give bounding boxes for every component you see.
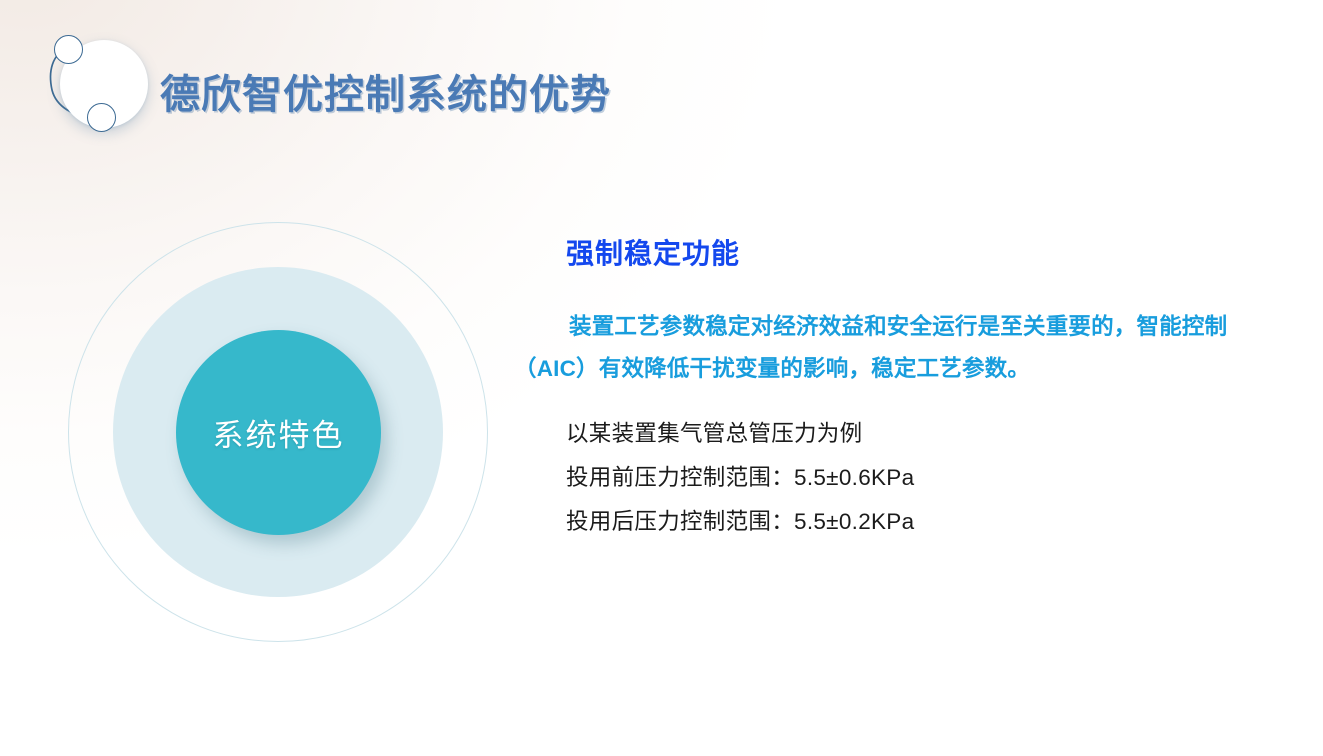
page-title: 德欣智优控制系统的优势	[160, 62, 611, 120]
list-item: 以某装置集气管总管压力为例	[566, 412, 1286, 456]
circle-ring-inner: 系统特色	[176, 330, 381, 535]
decoration-small-circle-bottom-icon	[87, 103, 116, 132]
decoration-small-circle-top-icon	[54, 35, 83, 64]
content-heading: 强制稳定功能	[566, 232, 740, 272]
content-list: 以某装置集气管总管压力为例 投用前压力控制范围：5.5±0.6KPa 投用后压力…	[566, 412, 1286, 544]
concentric-circle-graphic: 系统特色	[68, 222, 488, 642]
content-paragraph: 装置工艺参数稳定对经济效益和安全运行是至关重要的，智能控制（AIC）有效降低干扰…	[514, 306, 1286, 390]
slide-header: 德欣智优控制系统的优势	[0, 0, 1323, 155]
list-item: 投用前压力控制范围：5.5±0.6KPa	[566, 456, 1286, 500]
list-item: 投用后压力控制范围：5.5±0.2KPa	[566, 500, 1286, 544]
header-decoration	[36, 24, 166, 139]
circle-center-label: 系统特色	[213, 410, 345, 455]
slide-root: 德欣智优控制系统的优势 系统特色 强制稳定功能 装置工艺参数稳定对经济效益和安全…	[0, 0, 1323, 756]
